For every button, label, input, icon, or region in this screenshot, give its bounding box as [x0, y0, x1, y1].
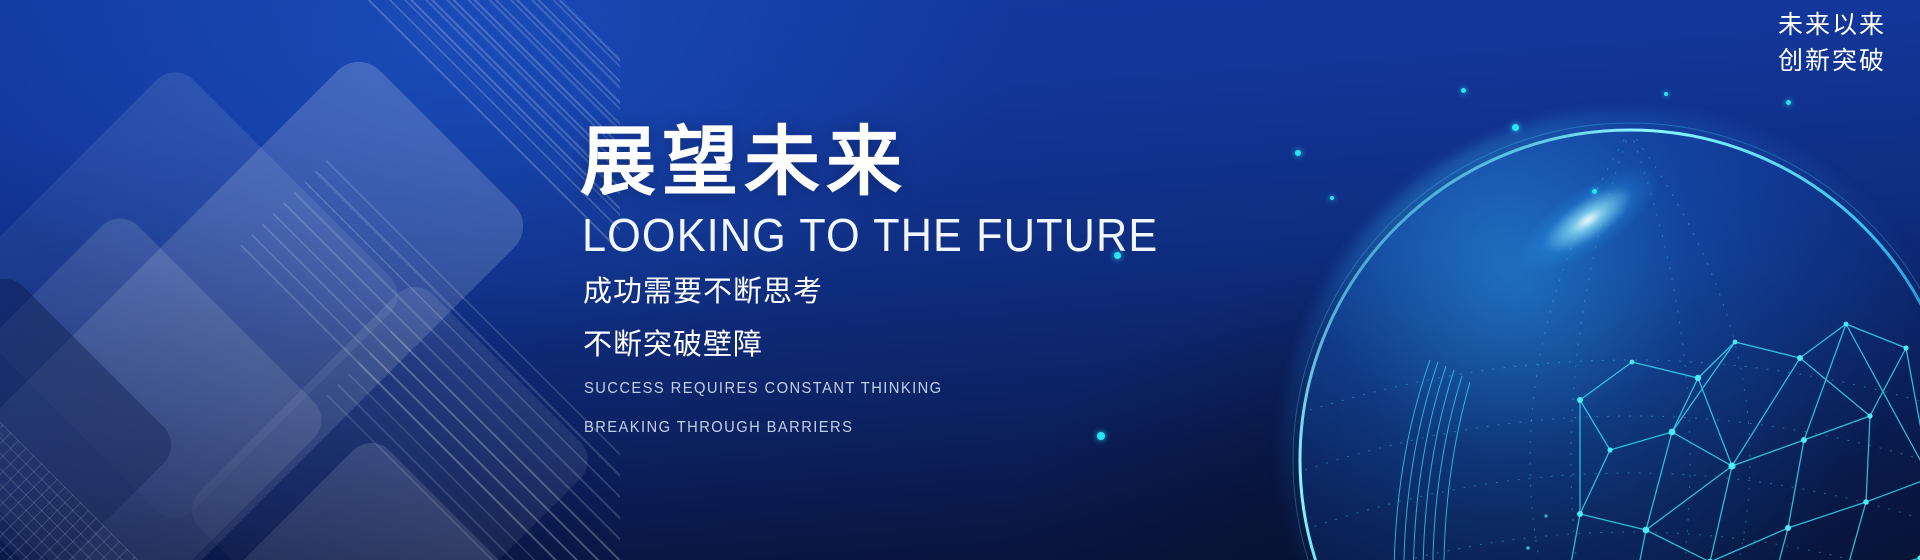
corner-slogan-line-2: 创新突破	[1778, 44, 1886, 80]
corner-slogan: 未来以来 创新突破	[1778, 8, 1886, 79]
spark-dot	[1664, 92, 1668, 96]
spark-dot	[1295, 150, 1301, 156]
decorative-geometry-left	[0, 0, 620, 560]
spark-dot	[1330, 196, 1334, 200]
promo-banner: 未来以来 创新突破 展望未来 LOOKING TO THE FUTURE 成功需…	[0, 0, 1920, 560]
page-title-english: LOOKING TO THE FUTURE	[582, 212, 1238, 260]
spark-dot	[1592, 189, 1597, 194]
subtitle-en-line-2: BREAKING THROUGH BARRIERS	[584, 415, 1245, 442]
subtitle-en-line-1: SUCCESS REQUIRES CONSTANT THINKING	[584, 376, 1245, 403]
spark-dot	[1512, 124, 1519, 131]
spark-dot	[1786, 100, 1791, 105]
corner-slogan-line-1: 未来以来	[1778, 8, 1886, 44]
subtitle-cn-line-2: 不断突破壁障	[583, 326, 1280, 365]
spark-dot	[1461, 88, 1466, 93]
headline-block: 展望未来 LOOKING TO THE FUTURE 成功需要不断思考 不断突破…	[580, 124, 1280, 442]
page-title: 展望未来	[580, 124, 1280, 202]
subtitle-cn-line-1: 成功需要不断思考	[583, 273, 1280, 312]
wireframe-globe	[1280, 110, 1920, 560]
